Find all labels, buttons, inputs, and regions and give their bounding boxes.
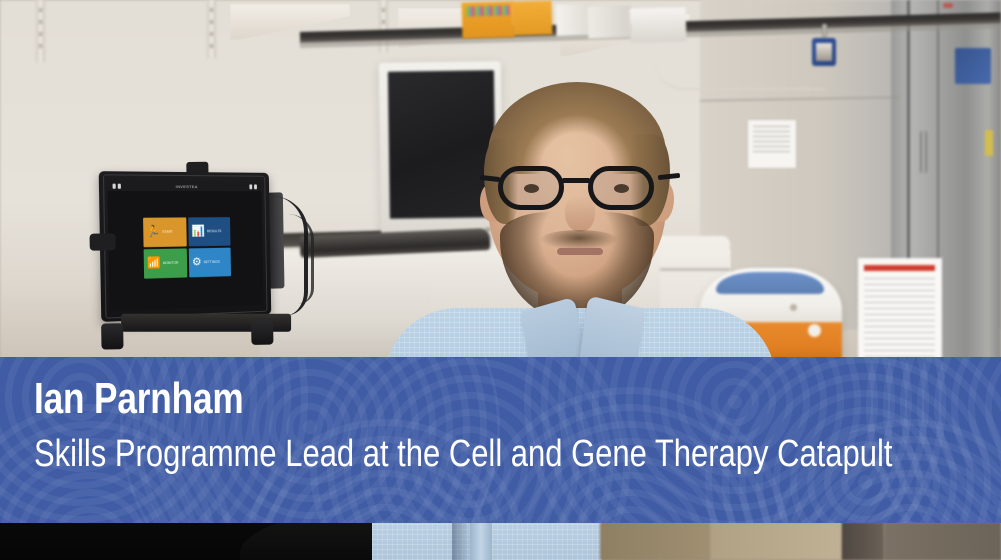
tablet-status-bar: INVESTEA — [107, 181, 261, 192]
tablet-cable — [288, 214, 314, 304]
stand-foot — [251, 321, 273, 345]
white-supply-box — [588, 5, 633, 38]
cabinet-yellow-marker — [985, 130, 993, 156]
wall-notice-label — [748, 120, 796, 168]
shirt-fold-shadow — [452, 520, 470, 560]
stand-foot — [101, 323, 123, 349]
tile-label: RESULTS — [207, 229, 222, 233]
instrument-indicator — [790, 304, 797, 311]
eye — [524, 184, 539, 193]
furniture-right — [842, 522, 884, 560]
shirt-lower-placket — [470, 520, 492, 560]
mouth — [557, 248, 603, 255]
tablet-tile-start[interactable]: 🏃 START — [143, 217, 187, 247]
status-right-icons — [249, 184, 257, 189]
furniture-right — [600, 522, 710, 560]
white-supply-box — [630, 7, 687, 43]
furniture-right — [710, 522, 842, 560]
glasses-bridge — [562, 178, 590, 183]
tile-label: MONITOR — [163, 261, 179, 265]
battery-icon — [113, 183, 116, 188]
chart-icon: 📊 — [191, 226, 205, 237]
speaker-role: Skills Programme Lead at the Cell and Ge… — [34, 434, 806, 474]
lower-third-banner: Ian Parnham Skills Programme Lead at the… — [0, 357, 1001, 523]
video-still-frame: INVESTEA 🏃 START 📊 RESULT — [0, 0, 1001, 560]
tablet-tile-results[interactable]: 📊 RESULTS — [188, 217, 230, 246]
glasses — [492, 166, 668, 212]
moustache — [540, 230, 618, 250]
tile-label: START — [162, 230, 173, 234]
tablet-tile-monitor[interactable]: 📶 MONITOR — [144, 248, 188, 278]
shelf-rail — [207, 0, 216, 58]
interview-subject — [430, 80, 730, 380]
tablet-device: INVESTEA 🏃 START 📊 RESULT — [99, 171, 272, 322]
runner-icon: 🏃 — [146, 226, 160, 237]
shelf-rail — [36, 0, 45, 62]
orange-supply-box — [462, 1, 515, 38]
tablet-tile-settings[interactable]: ⚙ SETTINGS — [189, 247, 231, 277]
tablet-tile-grid: 🏃 START 📊 RESULTS 📶 MONITOR ⚙ — [143, 217, 231, 279]
cabinet-indicator-light — [943, 3, 953, 8]
signal-icon — [118, 183, 121, 188]
stand-clip-left — [90, 233, 116, 250]
glasses-temple — [480, 175, 500, 182]
gear-icon: ⚙ — [192, 257, 202, 268]
cabinet-blue-panel — [955, 48, 991, 84]
instrument-info-sheet — [858, 258, 942, 368]
banner-text-block: Ian Parnham Skills Programme Lead at the… — [34, 377, 981, 474]
tablet-app-title: INVESTEA — [176, 183, 198, 188]
wifi-icon — [249, 184, 252, 189]
clock-icon — [254, 184, 257, 189]
furniture-right — [884, 522, 1001, 560]
instrument-lid — [716, 272, 824, 294]
cabinet-handle — [920, 130, 927, 174]
speaker-name: Ian Parnham — [34, 377, 792, 422]
orange-supply-box — [512, 0, 553, 35]
tile-label: SETTINGS — [204, 260, 220, 264]
instrument-button — [808, 324, 821, 337]
eye — [614, 184, 629, 193]
tablet-on-stand: INVESTEA 🏃 START 📊 RESULT — [90, 170, 289, 351]
signal-icon: 📶 — [147, 258, 161, 269]
status-left-icons — [113, 183, 121, 188]
tablet-screen: INVESTEA 🏃 START 📊 RESULT — [107, 181, 263, 312]
